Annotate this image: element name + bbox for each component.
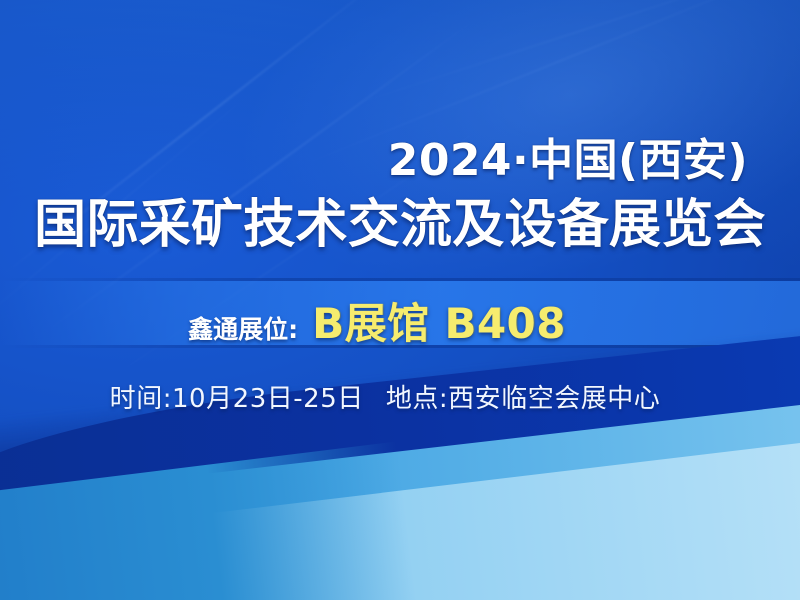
booth-number: B展馆 B408 [312,290,566,351]
exhibition-poster: 2024·中国(西安) 国际采矿技术交流及设备展览会 鑫通展位: B展馆 B40… [0,0,800,600]
event-info-row: 时间:10月23日-25日 地点:西安临空会展中心 [0,378,800,415]
event-date: 时间:10月23日-25日 [110,378,364,415]
booth-label: 鑫通展位: [188,310,298,346]
event-venue: 地点:西安临空会展中心 [386,378,660,415]
poster-title-year: 2024·中国(西安) [388,124,748,188]
booth-info-row: 鑫通展位: B展馆 B408 [0,290,800,351]
poster-title-main: 国际采矿技术交流及设备展览会 [34,182,766,257]
